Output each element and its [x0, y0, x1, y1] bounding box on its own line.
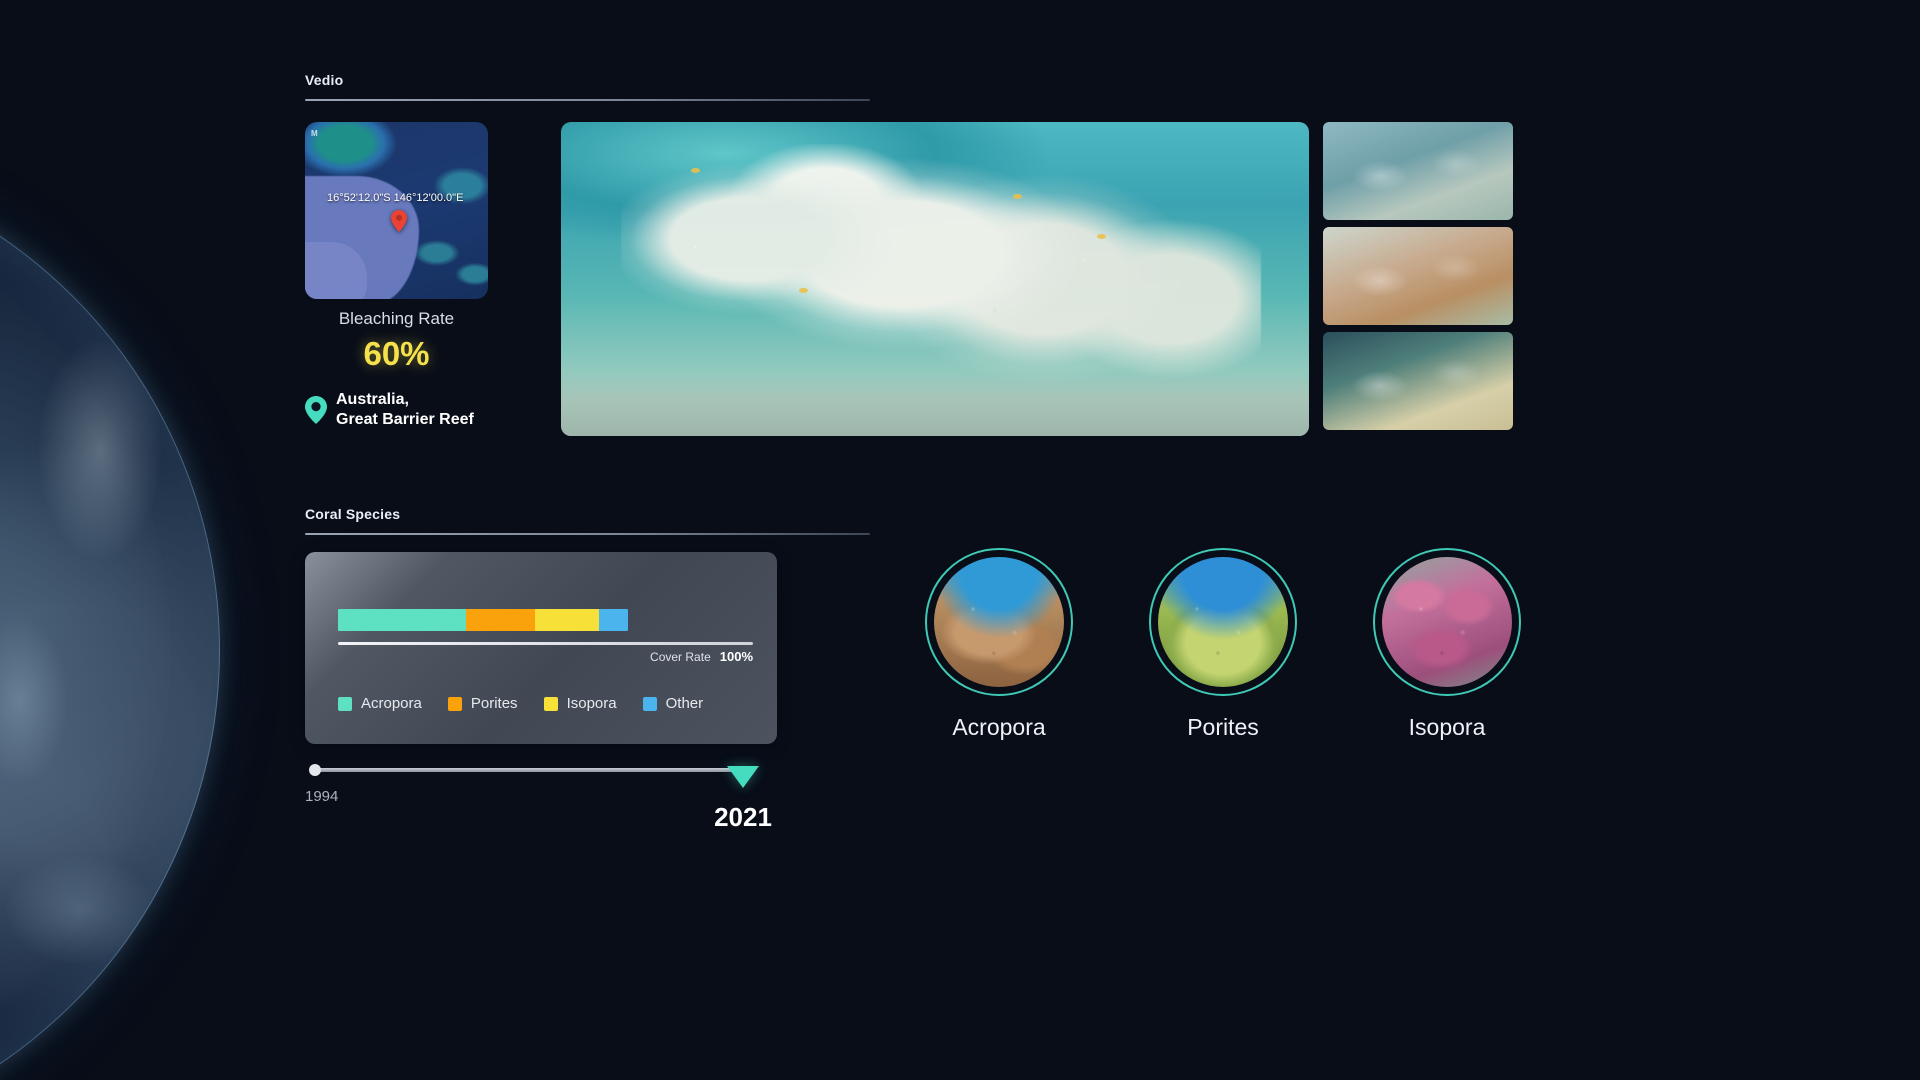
species-photo-isopora: [1382, 557, 1512, 687]
location-pin-icon: [305, 396, 327, 424]
species-card-isopora[interactable]: Isopora: [1373, 548, 1521, 741]
species-card-acropora[interactable]: Acropora: [925, 548, 1073, 741]
video-thumbnail-list: [1323, 122, 1513, 437]
bar-segment-other[interactable]: [599, 609, 628, 631]
legend-label-porites: Porites: [471, 695, 518, 712]
timeline-track[interactable]: [315, 768, 755, 772]
reef-thumbnail-1[interactable]: [1323, 122, 1513, 220]
legend-label-isopora: Isopora: [567, 695, 617, 712]
species-photo-porites: [1158, 557, 1288, 687]
species-stacked-bar[interactable]: [338, 609, 628, 631]
legend-item-acropora[interactable]: Acropora: [338, 695, 422, 712]
species-composition-panel: Cover Rate 100% AcroporaPoritesIsoporaOt…: [305, 552, 777, 744]
species-name-isopora: Isopora: [1373, 714, 1521, 741]
cover-rate-label: Cover Rate: [650, 650, 711, 664]
cover-rate-row: Cover Rate 100%: [650, 649, 753, 664]
location-line-2: Great Barrier Reef: [336, 411, 474, 428]
bleaching-rate-label: Bleaching Rate: [305, 309, 488, 329]
earth-globe-rim: [0, 150, 220, 1080]
species-section-divider: [305, 533, 870, 535]
legend-swatch-other: [643, 697, 657, 711]
main-video-player[interactable]: [561, 122, 1309, 436]
bar-segment-acropora[interactable]: [338, 609, 466, 631]
map-coordinates: 16°52'12.0"S 146°12'00.0"E: [327, 192, 463, 204]
timeline-start-year: 1994: [305, 788, 338, 805]
video-section-title: Vedio: [305, 72, 870, 88]
timeline-start-handle[interactable]: [309, 764, 321, 776]
legend-swatch-isopora: [544, 697, 558, 711]
video-play-surface[interactable]: [561, 122, 1309, 436]
species-legend: AcroporaPoritesIsoporaOther: [338, 695, 703, 712]
reef-thumbnail-3[interactable]: [1323, 332, 1513, 430]
reef-thumbnail-2[interactable]: [1323, 227, 1513, 325]
species-name-acropora: Acropora: [925, 714, 1073, 741]
cover-rate-value: 100%: [720, 649, 753, 664]
timeline-selected-year: 2021: [714, 802, 772, 833]
video-section-header: Vedio: [305, 72, 870, 101]
bar-segment-isopora[interactable]: [535, 609, 599, 631]
dashboard-root: Vedio M 16°52'12.0"S 146°12'00.0"E Bleac…: [0, 0, 1920, 1080]
species-card-list: AcroporaPoritesIsopora: [925, 548, 1521, 741]
species-name-porites: Porites: [1149, 714, 1297, 741]
species-circle-acropora[interactable]: [925, 548, 1073, 696]
location-name: Australia, Great Barrier Reef: [336, 390, 474, 430]
bar-segment-porites[interactable]: [466, 609, 536, 631]
bleaching-rate-value: 60%: [305, 335, 488, 373]
legend-label-acropora: Acropora: [361, 695, 422, 712]
legend-item-other[interactable]: Other: [643, 695, 704, 712]
video-section-divider: [305, 99, 870, 101]
species-section-header: Coral Species: [305, 506, 870, 535]
timeline-end-handle[interactable]: [727, 766, 759, 788]
species-card-porites[interactable]: Porites: [1149, 548, 1297, 741]
species-circle-isopora[interactable]: [1373, 548, 1521, 696]
location-block: Australia, Great Barrier Reef: [305, 390, 474, 430]
legend-item-porites[interactable]: Porites: [448, 695, 518, 712]
legend-swatch-acropora: [338, 697, 352, 711]
map-watermark: M: [311, 129, 318, 138]
species-circle-porites[interactable]: [1149, 548, 1297, 696]
species-section-title: Coral Species: [305, 506, 870, 522]
species-bar-baseline: [338, 642, 753, 645]
legend-label-other: Other: [666, 695, 704, 712]
map-pin-icon: [391, 210, 407, 232]
species-photo-acropora: [934, 557, 1064, 687]
location-line-1: Australia,: [336, 391, 409, 408]
legend-swatch-porites: [448, 697, 462, 711]
legend-item-isopora[interactable]: Isopora: [544, 695, 617, 712]
location-map-card[interactable]: M 16°52'12.0"S 146°12'00.0"E: [305, 122, 488, 299]
